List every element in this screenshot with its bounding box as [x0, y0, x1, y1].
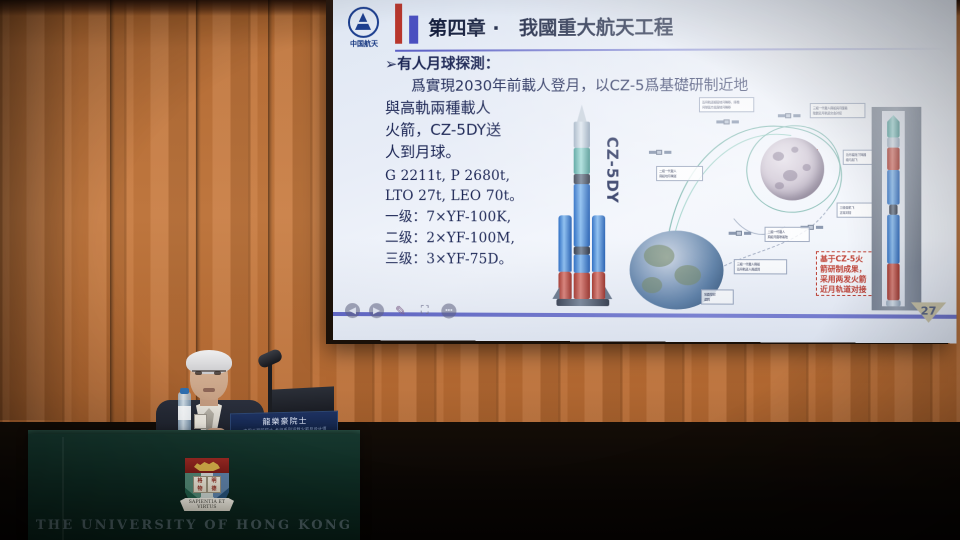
wall-seam: [110, 0, 115, 440]
previous-slide-icon[interactable]: ◀: [345, 303, 360, 318]
presentation-toolbar[interactable]: ◀ ▶ ✎ ⛶ •••: [345, 303, 456, 319]
rocket-payload-fairing: [574, 122, 590, 148]
cutaway-nose: [887, 115, 899, 137]
paragraph-line-2: 與高軌兩種載人: [385, 99, 564, 119]
rocket-booster-left-base: [558, 272, 571, 299]
crest-motto: SAPIENTIA ET VIRTUS: [180, 500, 234, 510]
hku-crest: 格明物德 SAPIENTIA ET VIRTUS: [178, 448, 236, 514]
slide-page-badge: 27: [911, 302, 946, 325]
rocket-interstage: [574, 174, 590, 184]
water-bottle-label: [178, 406, 191, 420]
cutaway-stage-1: [887, 215, 899, 264]
presentation-slide[interactable]: 中国航天 第四章 · 我國重大航天工程 ➢有人月球探測： 爲實現2030年前載人…: [333, 0, 957, 343]
lecture-hall-scene: 中国航天 第四章 · 我國重大航天工程 ➢有人月球探測： 爲實現2030年前載人…: [0, 0, 960, 540]
rocket-interstage-lower: [574, 247, 590, 255]
paragraph-line-3: 火箭，CZ-5DY送: [385, 121, 564, 141]
speaker-eye-right: [214, 371, 221, 375]
moon-illustration: [760, 138, 824, 201]
rocket-fin-right: [605, 287, 612, 299]
cutaway-stage-3: [887, 148, 899, 170]
speaker-lapel-badge: [194, 414, 207, 429]
diagram-annotation: 二級一代載人 飛船地月轉運: [656, 166, 703, 181]
wall-left-shadow: [0, 0, 80, 420]
more-options-icon[interactable]: •••: [441, 303, 456, 318]
cutaway-interstage: [889, 205, 897, 215]
rocket-name-label: CZ-5DY: [603, 137, 621, 204]
cz5dy-rocket-illustration: CZ-5DY: [544, 104, 619, 306]
rocket-cutaway-diagram: [872, 107, 922, 311]
rocket-fin-left: [552, 287, 559, 299]
rocket-upper-stage: [574, 148, 590, 174]
casc-logo: 中国航天: [341, 6, 387, 52]
slide-title: 第四章 · 我國重大航天工程: [428, 12, 673, 40]
rocket-core-stage: [574, 255, 590, 273]
diagram-annotation: 二級一代載人 飛船月面軟着陆: [765, 227, 810, 242]
diagram-annotation: 地面發射 返回: [701, 289, 734, 304]
casc-logo-text: 中国航天: [341, 39, 387, 49]
rocket-booster-left: [558, 215, 571, 271]
cutaway-interior: [882, 111, 905, 306]
crest-chinese-characters: 格明物德: [193, 477, 221, 492]
rocket-nose-cone: [577, 104, 587, 122]
title-accent-red-bar: [395, 4, 402, 44]
diagram-annotation: 三級一代載人飛船與月面着 陸器近月軌道交会对接: [810, 103, 866, 118]
rocket-engine-cluster: [556, 299, 609, 306]
lunar-mission-diagram: 近月軌道組裝地月轉移，擇機 月球區方案與地月轉移 三級一代載人飛船與月面着 陸器…: [636, 97, 893, 316]
cutaway-adapter: [887, 137, 899, 147]
rocket-booster-right: [592, 215, 605, 271]
rocket-booster-right-base: [592, 272, 605, 299]
zoom-tool-icon[interactable]: ⛶: [417, 303, 432, 318]
diagram-annotation: 三級一代載人飛船 近月軌道人員返回: [734, 259, 787, 274]
title-accent-blue-bar: [409, 16, 418, 44]
paragraph-line-1: 爲實現2030年前載人登月，以CZ-5爲基礎研制近地: [385, 76, 957, 97]
cutaway-booster: [887, 264, 899, 301]
title-divider: [395, 48, 946, 52]
page-number: 27: [911, 304, 946, 317]
bullet-heading: ➢有人月球探測：: [385, 54, 957, 75]
pen-tool-icon[interactable]: ✎: [393, 303, 408, 318]
university-name-text: THE UNIVERSITY OF HONG KONG: [28, 518, 360, 533]
speaker-eye-left: [195, 371, 202, 375]
cutaway-stage-2: [887, 170, 899, 205]
diagram-annotation: 近月軌道組裝地月轉移，擇機 月球區方案與地月轉移: [699, 97, 754, 112]
casc-arrow-icon: [355, 13, 371, 30]
paragraph-line-4: 人到月球。: [385, 143, 564, 163]
rocket-first-stage: [574, 273, 590, 299]
water-bottle-cap: [180, 388, 189, 394]
cutaway-engine: [886, 300, 900, 306]
speaker-mouth: [203, 388, 215, 392]
next-slide-icon[interactable]: ▶: [369, 303, 384, 318]
rocket-second-stage: [574, 184, 590, 247]
